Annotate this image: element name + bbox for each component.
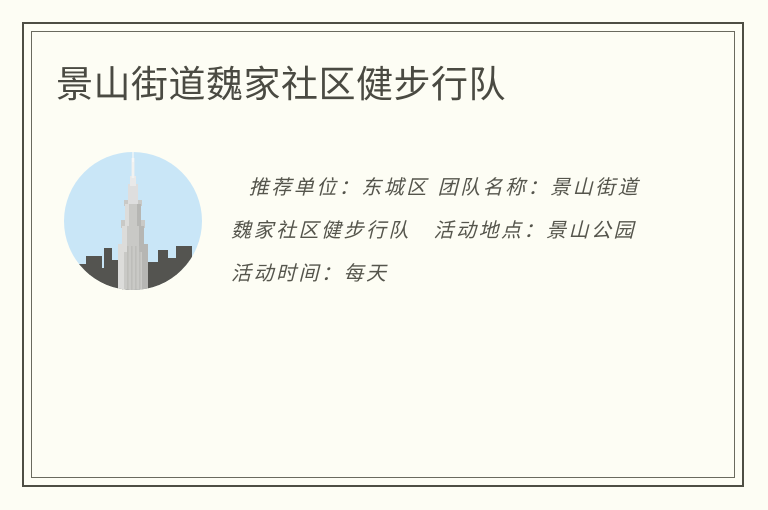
info-card: 景山街道魏家社区健步行队 [0,0,768,510]
team-detail-text: 推荐单位：东城区 团队名称：景山街道魏家社区健步行队 活动地点：景山公园 活动时… [231,166,651,295]
page-title: 景山街道魏家社区健步行队 [56,62,506,108]
empire-state-building-icon [64,152,202,290]
